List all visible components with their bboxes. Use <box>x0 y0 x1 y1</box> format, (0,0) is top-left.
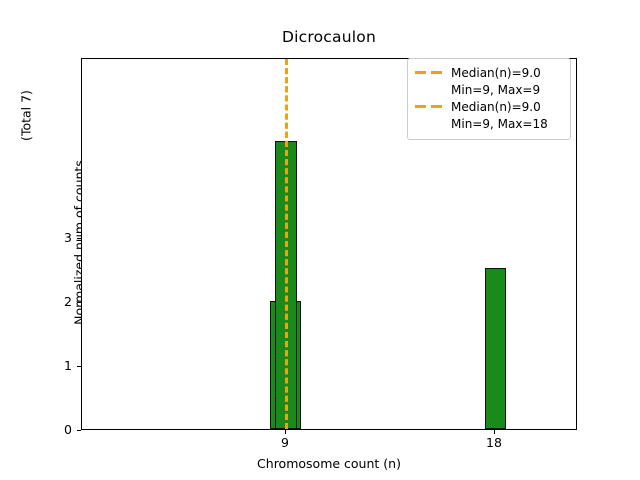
legend-label-1: Median(n)=9.0 Min=9, Max=9 <box>451 65 541 98</box>
median-line-series2 <box>285 59 288 429</box>
x-axis-label: Chromosome count (n) <box>81 456 577 471</box>
dashed-line-icon <box>414 65 444 80</box>
ytick-label-0: 0 <box>32 424 72 437</box>
xtick-label-9: 9 <box>255 437 315 450</box>
xtick-mark-9 <box>285 430 286 434</box>
bar-n18-series2 <box>485 268 506 429</box>
legend-label-2-line1: Median(n)=9.0 <box>451 100 541 114</box>
legend-label-1-line2: Min=9, Max=9 <box>451 82 541 99</box>
ytick-label-1: 1 <box>32 360 72 373</box>
ytick-label-2: 2 <box>32 296 72 309</box>
ytick-label-3: 3 <box>32 232 72 245</box>
ytick-mark-0 <box>77 430 81 431</box>
legend-label-2: Median(n)=9.0 Min=9, Max=18 <box>451 99 548 132</box>
y-axis-total-label: (Total 7) <box>19 71 34 161</box>
legend-label-2-line2: Min=9, Max=18 <box>451 116 548 133</box>
legend-label-1-line1: Median(n)=9.0 <box>451 66 541 80</box>
legend: Median(n)=9.0 Min=9, Max=9 Median(n)=9.0… <box>407 58 571 140</box>
dashed-line-icon <box>414 99 444 114</box>
xtick-label-18: 18 <box>464 437 524 450</box>
xtick-mark-18 <box>494 430 495 434</box>
chart-figure: Dicrocaulon 0 1 2 3 9 18 Chromosome coun… <box>0 0 640 480</box>
chart-title: Dicrocaulon <box>81 28 577 46</box>
legend-entry-2: Median(n)=9.0 Min=9, Max=18 <box>414 99 563 132</box>
legend-entry-1: Median(n)=9.0 Min=9, Max=9 <box>414 65 563 98</box>
